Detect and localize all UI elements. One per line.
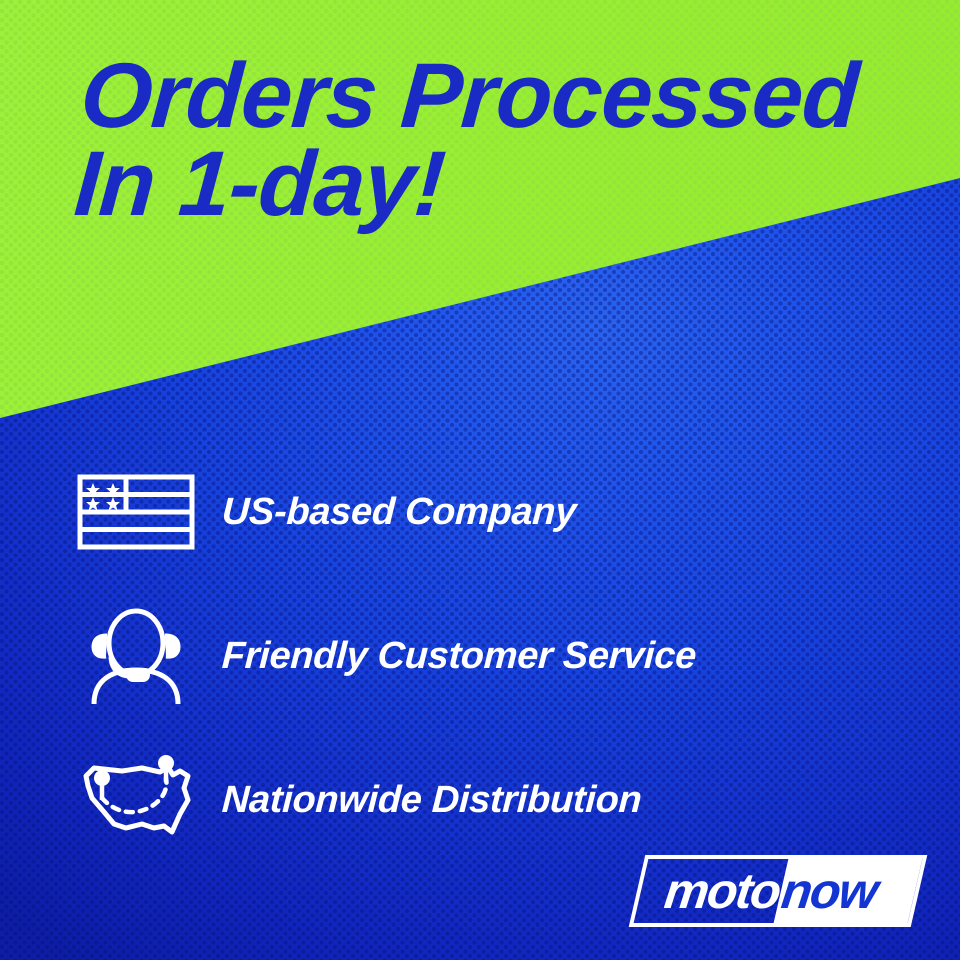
headline: Orders Processed In 1-day! xyxy=(72,52,944,229)
feature-item-nationwide: Nationwide Distribution xyxy=(76,728,896,872)
feature-item-customer-service: Friendly Customer Service xyxy=(76,584,896,728)
logo-word-moto: moto xyxy=(662,866,782,916)
feature-item-us-based: US-based Company xyxy=(76,440,896,584)
us-flag-icon xyxy=(76,462,206,562)
feature-label: Nationwide Distribution xyxy=(221,779,643,822)
motonow-logo[interactable]: moto now xyxy=(629,855,928,927)
promo-poster: Orders Processed In 1-day! US-based Comp… xyxy=(0,0,960,960)
us-map-route-icon xyxy=(76,750,206,850)
feature-label: Friendly Customer Service xyxy=(221,635,697,678)
logo-left-panel: moto xyxy=(634,859,789,923)
logo-word-now: now xyxy=(779,866,879,916)
headset-support-icon xyxy=(76,606,206,706)
feature-label: US-based Company xyxy=(221,491,577,534)
logo-right-panel: now xyxy=(774,859,922,923)
feature-list: US-based Company Friendly Customer Servi… xyxy=(76,440,896,872)
